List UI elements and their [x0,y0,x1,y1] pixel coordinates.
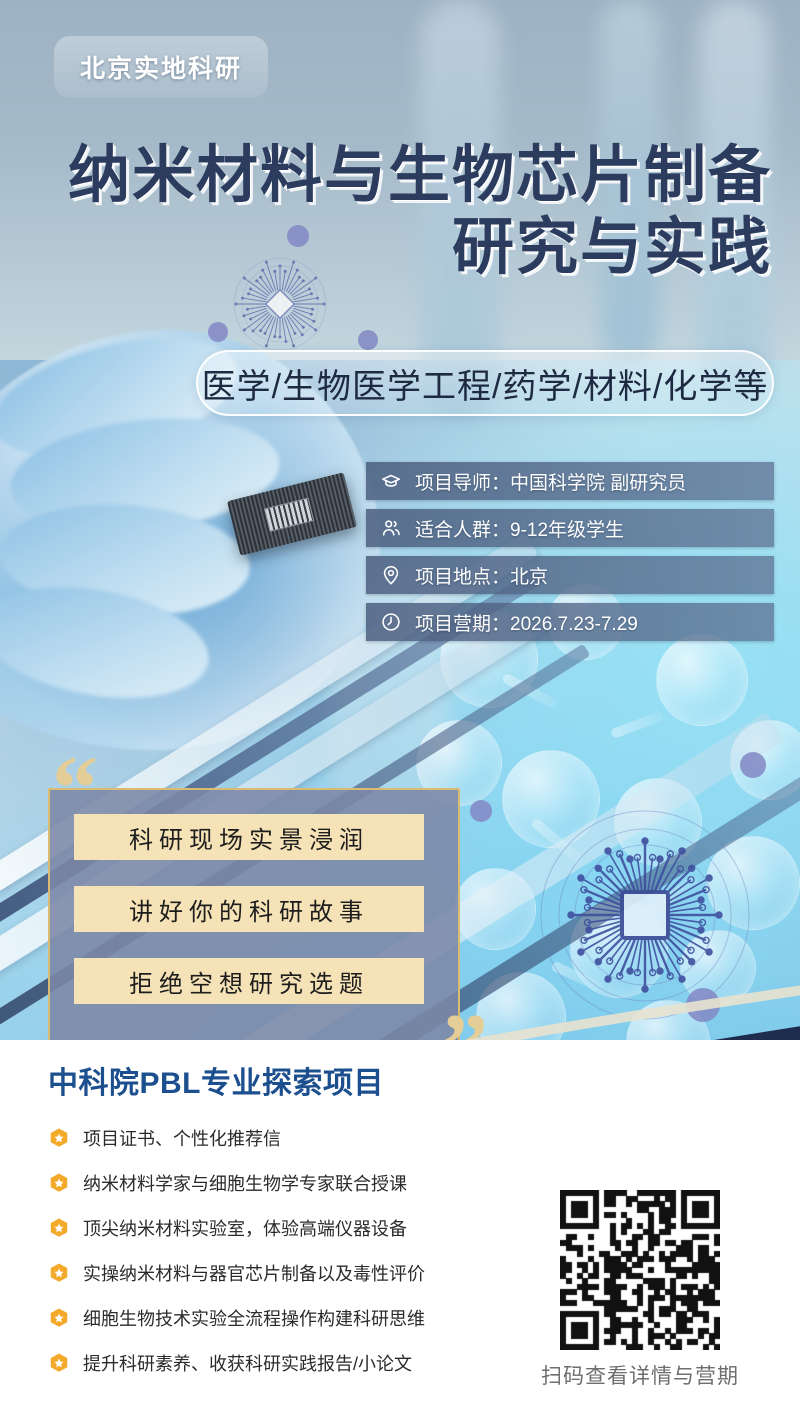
title-line-2: 研究与实践 [32,212,772,284]
bullet-label: 细胞生物技术实验全流程操作构建科研思维 [83,1305,425,1331]
molecule-bond [610,711,664,739]
hexagon-star-icon [48,1307,70,1329]
info-row-label: 项目导师：中国科学院 副研究员 [415,468,686,495]
bullet-item: 细胞生物技术实验全流程操作构建科研思维 [48,1298,518,1338]
info-row: 适合人群：9-12年级学生 [366,509,774,547]
info-row-label: 项目营期：2026.7.23-7.29 [415,609,638,636]
hexagon-star-icon [48,1172,70,1194]
bullet-list: 项目证书、个性化推荐信纳米材料学家与细胞生物学专家联合授课顶尖纳米材料实验室，体… [48,1118,518,1388]
feature-bar: 讲好你的科研故事 [74,886,424,932]
bullet-label: 顶尖纳米材料实验室，体验高端仪器设备 [83,1215,407,1241]
clock-icon [380,611,402,633]
hexagon-star-icon [48,1217,70,1239]
info-row: 项目导师：中国科学院 副研究员 [366,462,774,500]
bullet-item: 提升科研素养、收获科研实践报告/小论文 [48,1343,518,1383]
bullet-label: 项目证书、个性化推荐信 [83,1125,281,1151]
bullet-item: 纳米材料学家与细胞生物学专家联合授课 [48,1163,518,1203]
hexagon-star-icon [48,1262,70,1284]
bullet-label: 纳米材料学家与细胞生物学专家联合授课 [83,1170,407,1196]
info-row: 项目地点：北京 [366,556,774,594]
feature-bar-label: 讲好你的科研故事 [129,892,369,927]
graduation-cap-icon [380,470,402,492]
subject-pill: 医学/生物医学工程/药学/材料/化学等 [196,350,774,416]
title-line-1: 纳米材料与生物芯片制备 [32,140,772,212]
info-row-label: 适合人群：9-12年级学生 [415,515,624,542]
info-list: 项目导师：中国科学院 副研究员适合人群：9-12年级学生项目地点：北京项目营期：… [366,462,774,650]
bullet-label: 实操纳米材料与器官芯片制备以及毒性评价 [83,1260,425,1286]
node-dot [358,330,378,350]
feature-bar: 科研现场实景浸润 [74,814,424,860]
bullet-item: 实操纳米材料与器官芯片制备以及毒性评价 [48,1253,518,1293]
subject-pill-label: 医学/生物医学工程/药学/材料/化学等 [202,359,769,408]
bullet-label: 提升科研素养、收获科研实践报告/小论文 [83,1350,412,1376]
info-row-label: 项目地点：北京 [415,562,548,589]
bottom-heading: 中科院PBL专业探索项目 [48,1058,384,1102]
hexagon-star-icon [48,1127,70,1149]
qr-code[interactable] [560,1190,720,1350]
poster-root: 北京实地科研 纳米材料与生物芯片制备 研究与实践 医学/生物医学工程/药学/材料… [0,0,800,1422]
node-dot [740,752,766,778]
qr-caption: 扫码查看详情与营期 [520,1360,760,1390]
info-row: 项目营期：2026.7.23-7.29 [366,603,774,641]
feature-bar-label: 科研现场实景浸润 [129,820,369,855]
node-dot [208,322,228,342]
location-badge: 北京实地科研 [54,36,268,98]
poster-title: 纳米材料与生物芯片制备 研究与实践 [32,140,772,284]
location-pin-icon [380,564,402,586]
hexagon-star-icon [48,1352,70,1374]
bullet-item: 项目证书、个性化推荐信 [48,1118,518,1158]
people-icon [380,517,402,539]
node-dot [470,800,492,822]
bullet-item: 顶尖纳米材料实验室，体验高端仪器设备 [48,1208,518,1248]
